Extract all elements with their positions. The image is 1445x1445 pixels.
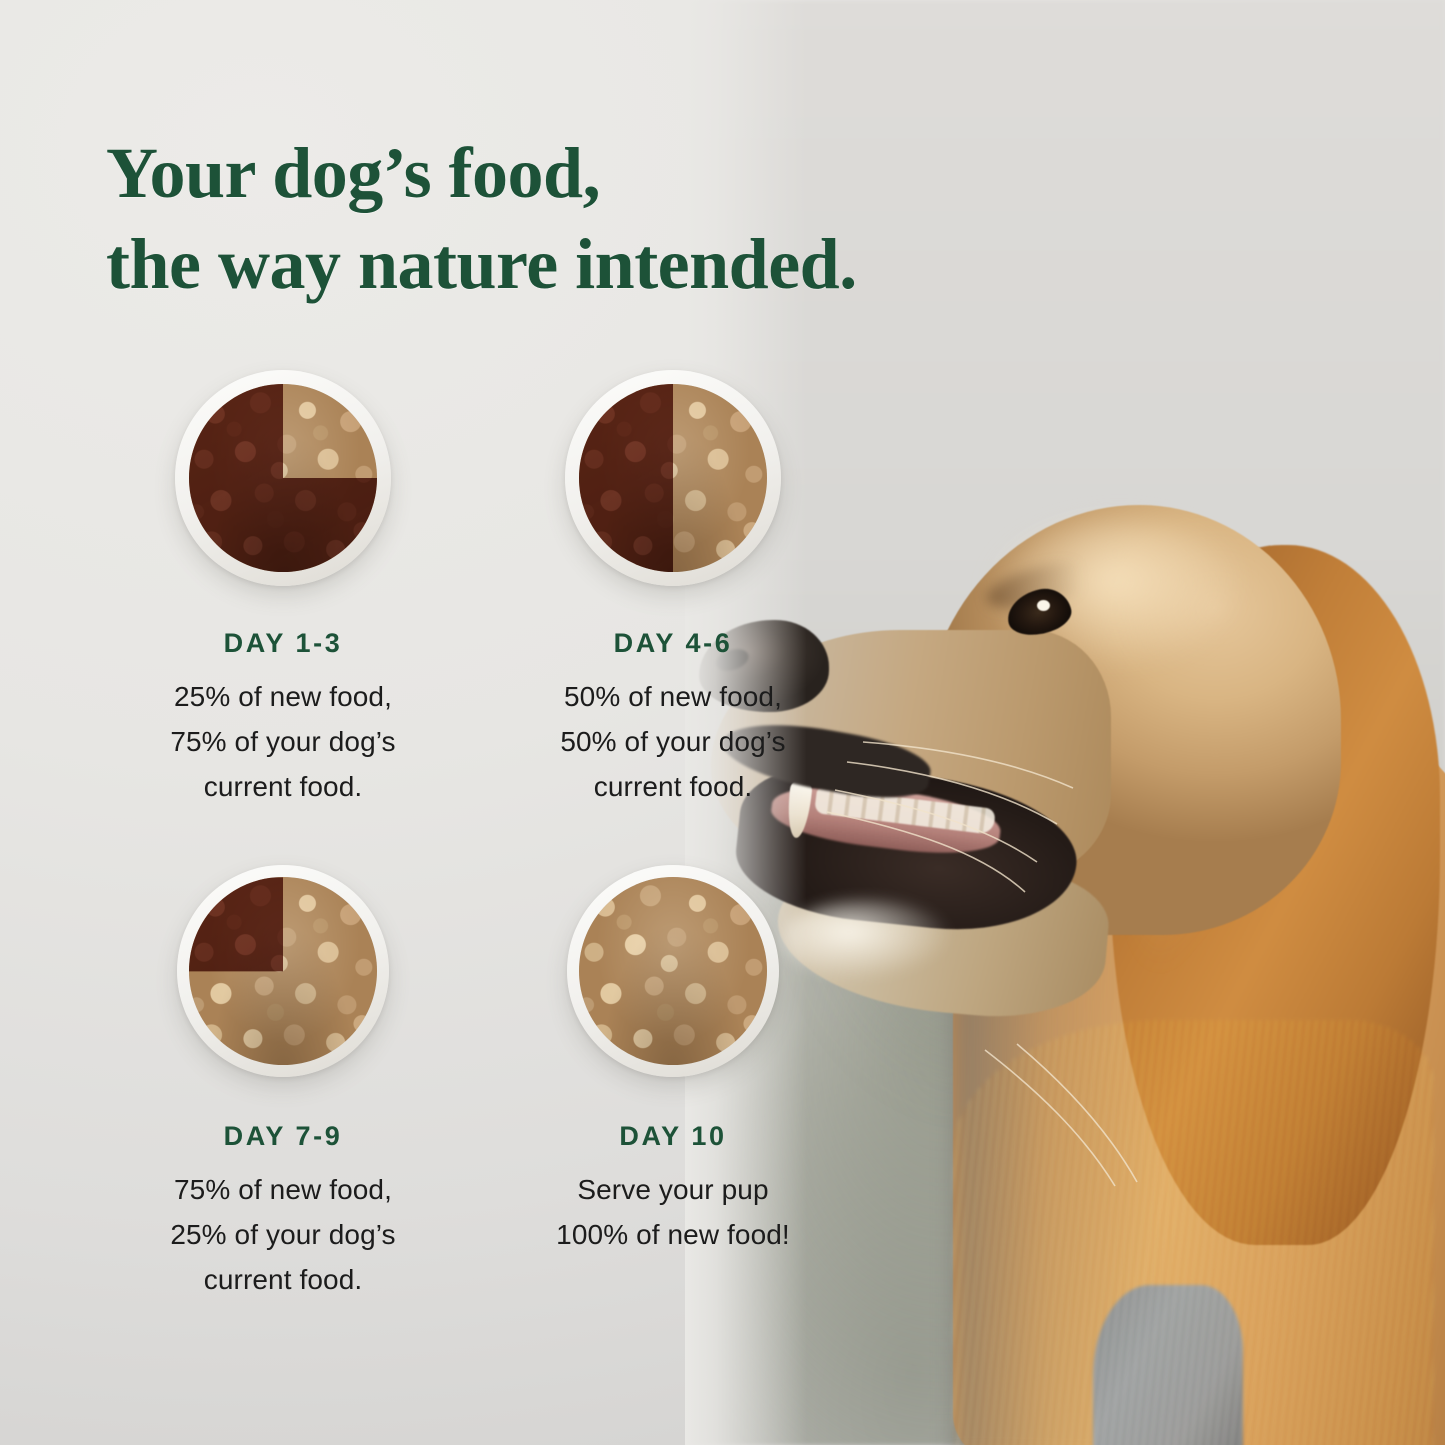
step-desc-line-1a: 25% of new food,	[88, 675, 478, 720]
food-bowl-1	[175, 370, 391, 586]
step-day-label-3: DAY 7-9	[88, 1121, 478, 1152]
bowl-inner-3	[189, 877, 377, 1065]
transition-steps: DAY 1-3 25% of new food, 75% of your dog…	[88, 362, 868, 1303]
step-description-4: Serve your pup 100% of new food!	[478, 1168, 868, 1258]
steps-row-bottom: DAY 7-9 75% of new food, 25% of your dog…	[88, 855, 868, 1302]
bowl-inner-2	[579, 384, 767, 572]
step-day-10: DAY 10 Serve your pup 100% of new food!	[478, 855, 868, 1302]
step-desc-line-3b: 25% of your dog’s	[88, 1213, 478, 1258]
page-title: Your dog’s food, the way nature intended…	[106, 128, 1066, 309]
step-description-1: 25% of new food, 75% of your dog’s curre…	[88, 675, 478, 809]
poster: Your dog’s food, the way nature intended…	[0, 0, 1445, 1445]
step-desc-line-2b: 50% of your dog’s	[478, 720, 868, 765]
food-bowl-3	[177, 865, 389, 1077]
steps-row-top: DAY 1-3 25% of new food, 75% of your dog…	[88, 362, 868, 809]
step-description-2: 50% of new food, 50% of your dog’s curre…	[478, 675, 868, 809]
food-bowl-4	[567, 865, 779, 1077]
bowl-wrap-1	[88, 362, 478, 594]
bowl-wrap-2	[478, 362, 868, 594]
step-description-3: 75% of new food, 25% of your dog’s curre…	[88, 1168, 478, 1302]
step-day-label-4: DAY 10	[478, 1121, 868, 1152]
step-day-1-3: DAY 1-3 25% of new food, 75% of your dog…	[88, 362, 478, 809]
step-day-label-1: DAY 1-3	[88, 628, 478, 659]
bowl-inner-4	[579, 877, 767, 1065]
headline-line-1: Your dog’s food,	[106, 133, 600, 213]
bowl-inner-1	[189, 384, 377, 572]
step-desc-line-1c: current food.	[88, 765, 478, 810]
bowl-wrap-4	[478, 855, 868, 1087]
step-desc-line-3a: 75% of new food,	[88, 1168, 478, 1213]
food-bowl-2	[565, 370, 781, 586]
step-desc-line-3c: current food.	[88, 1258, 478, 1303]
step-day-7-9: DAY 7-9 75% of new food, 25% of your dog…	[88, 855, 478, 1302]
step-desc-line-2a: 50% of new food,	[478, 675, 868, 720]
step-desc-line-4b: 100% of new food!	[478, 1213, 868, 1258]
step-desc-line-1b: 75% of your dog’s	[88, 720, 478, 765]
new-food-kibble-4	[579, 877, 767, 1065]
step-desc-line-2c: current food.	[478, 765, 868, 810]
bowl-wrap-3	[88, 855, 478, 1087]
headline-line-2: the way nature intended.	[106, 219, 1066, 310]
step-day-4-6: DAY 4-6 50% of new food, 50% of your dog…	[478, 362, 868, 809]
step-day-label-2: DAY 4-6	[478, 628, 868, 659]
step-desc-line-4a: Serve your pup	[478, 1168, 868, 1213]
